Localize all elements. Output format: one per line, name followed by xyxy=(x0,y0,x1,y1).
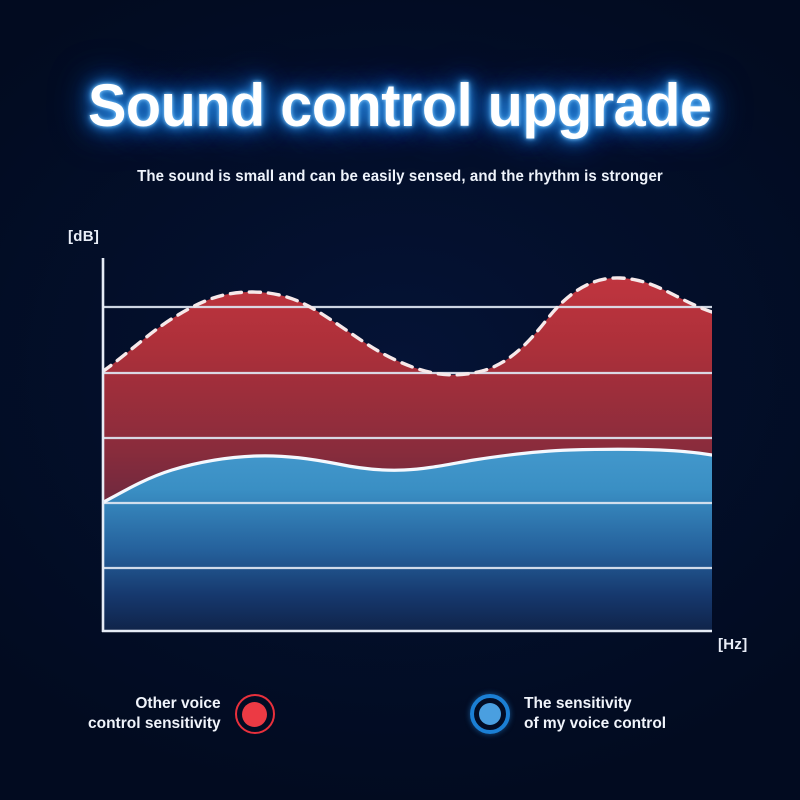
poster-canvas: Sound control upgrade The sound is small… xyxy=(0,0,800,800)
legend-item-my-voice-control[interactable]: The sensitivity of my voice control xyxy=(470,694,666,735)
sensitivity-area-chart: [dB] [Hz] xyxy=(0,0,800,800)
chart-plot xyxy=(0,0,800,800)
blue-target-icon xyxy=(470,694,510,734)
blue-series-area xyxy=(102,449,712,632)
red-dot xyxy=(242,702,267,727)
y-axis-label: [dB] xyxy=(68,228,99,245)
red-target-icon xyxy=(235,694,275,734)
x-axis-label: [Hz] xyxy=(718,636,748,653)
legend-label-my-voice-control: The sensitivity of my voice control xyxy=(524,694,666,735)
legend-label-other-voice-control: Other voice control sensitivity xyxy=(88,694,221,735)
legend-item-other-voice-control[interactable]: Other voice control sensitivity xyxy=(88,694,275,735)
